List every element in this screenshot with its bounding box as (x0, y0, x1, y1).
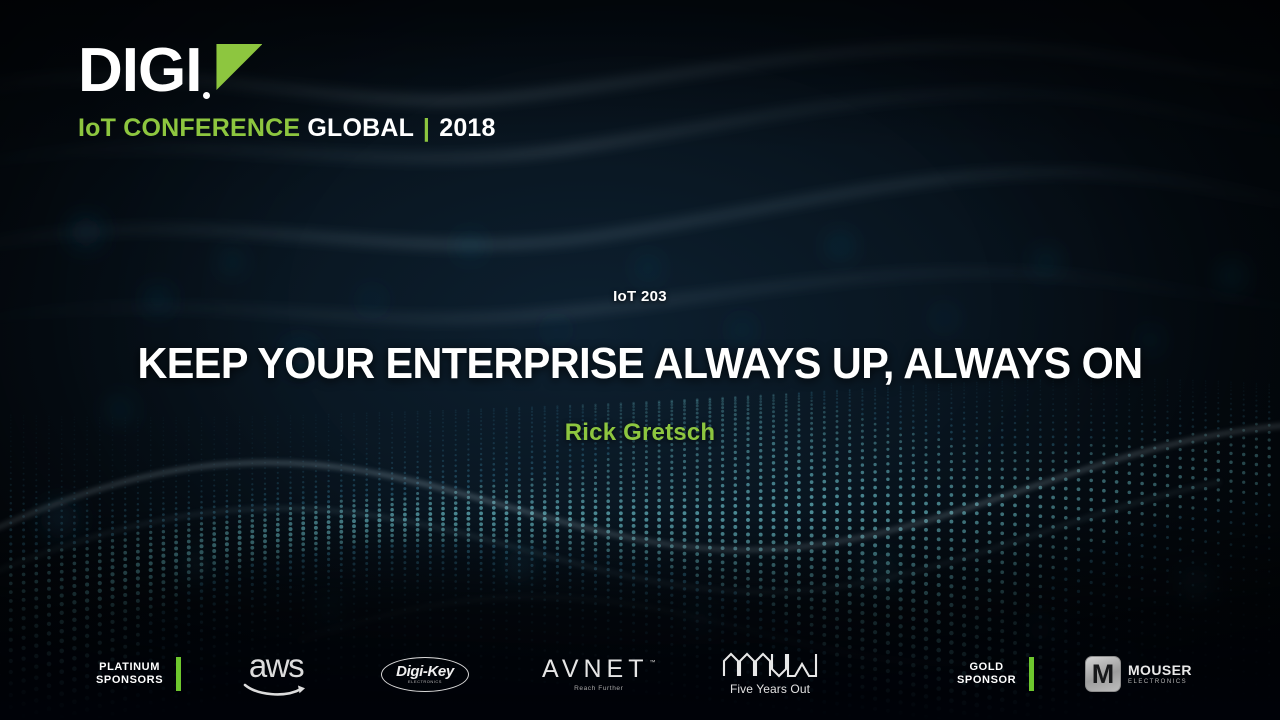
mouser-m-badge-icon: M (1085, 656, 1121, 692)
digi-brand-lockup: DIGI IoT CONFERENCE GLOBAL | 2018 (78, 42, 496, 143)
sponsor-bar: PLATINUM SPONSORS aws Digi-Key ELECTRONI… (0, 628, 1280, 720)
conference-separator: | (421, 114, 432, 142)
conference-year: 2018 (439, 114, 495, 142)
conference-prefix: IoT CONFERENCE (78, 114, 300, 142)
mouser-tagline: ELECTRONICS (1128, 678, 1192, 686)
avnet-tm-icon: ™ (650, 660, 656, 666)
page-title: KEEP YOUR ENTERPRISE ALWAYS UP, ALWAYS O… (38, 339, 1241, 389)
platinum-label-line2: SPONSORS (96, 674, 163, 687)
digikey-tagline: ELECTRONICS (408, 679, 442, 684)
sponsor-logo-digi-key[interactable]: Digi-Key ELECTRONICS (381, 628, 469, 720)
sponsor-logo-mouser[interactable]: M MOUSER ELECTRONICS (1085, 628, 1192, 720)
digi-period-dot (203, 92, 210, 99)
gold-label-line2: SPONSOR (957, 674, 1016, 687)
arrow-tagline: Five Years Out (730, 682, 810, 696)
aws-smile-icon (243, 682, 309, 698)
avnet-wordmark: AVNET (542, 657, 649, 682)
sponsor-logo-aws[interactable]: aws (243, 628, 309, 720)
speaker-name: Rick Gretsch (0, 419, 1280, 447)
mouser-wordmark: MOUSER (1128, 663, 1192, 677)
platinum-divider-bar (176, 657, 181, 691)
sponsor-logo-arrow[interactable]: Five Years Out (722, 628, 818, 720)
platinum-label-line1: PLATINUM (96, 661, 163, 674)
sponsor-logo-avnet[interactable]: AVNET ™ Reach Further (542, 628, 656, 720)
avnet-tagline: Reach Further (574, 685, 623, 692)
digi-logo: DIGI (78, 42, 496, 104)
green-triangle-icon (216, 44, 262, 90)
gold-tier-label: GOLD SPONSOR (957, 628, 1034, 720)
session-code: IoT 203 (0, 288, 1280, 305)
gold-divider-bar (1029, 657, 1034, 691)
conference-scope: GLOBAL (307, 114, 413, 142)
digi-wordmark: DIGI (78, 42, 201, 100)
digikey-wordmark: Digi-Key (396, 664, 454, 679)
arrow-wordmark-icon (722, 652, 818, 678)
mouser-m-letter: M (1092, 661, 1115, 688)
presentation-slide: DIGI IoT CONFERENCE GLOBAL | 2018 IoT 20… (0, 0, 1280, 720)
slide-center-content: IoT 203 KEEP YOUR ENTERPRISE ALWAYS UP, … (0, 288, 1280, 447)
gold-label-line1: GOLD (957, 661, 1016, 674)
conference-title-line: IoT CONFERENCE GLOBAL | 2018 (78, 114, 496, 143)
aws-wordmark: aws (249, 651, 303, 681)
platinum-tier-label: PLATINUM SPONSORS (96, 628, 181, 720)
